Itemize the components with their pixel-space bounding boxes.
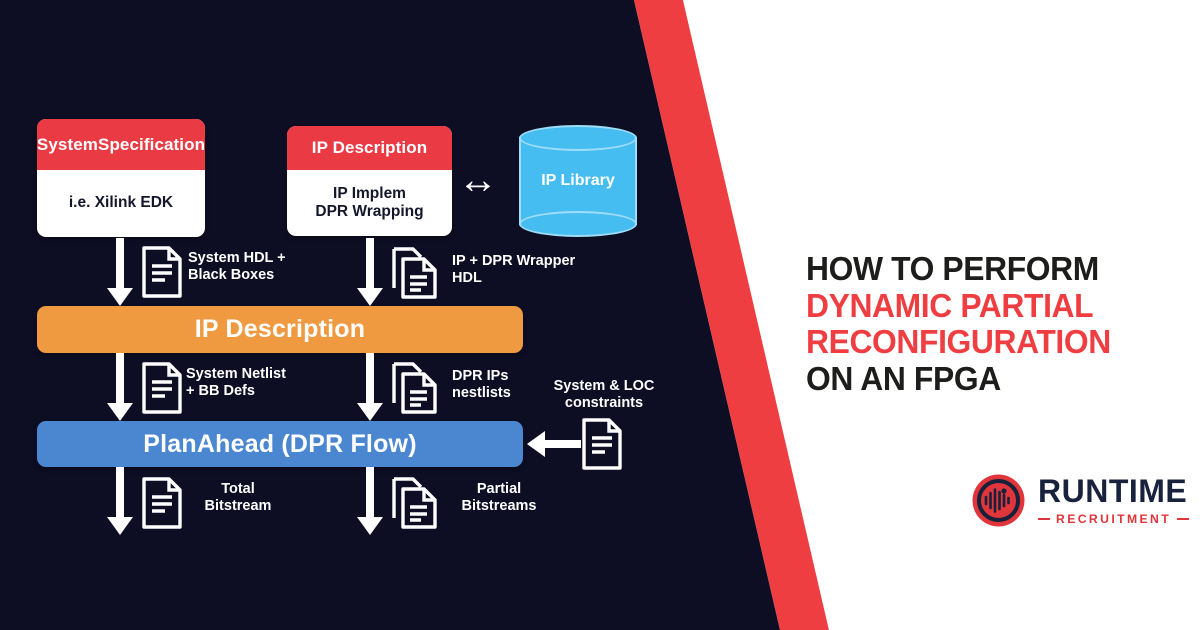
edge-label-line1: Total (221, 481, 255, 497)
card-body-line2: DPR Wrapping (315, 203, 423, 220)
logo-wordmark: RUNTIME RECRUITMENT (1038, 475, 1189, 526)
page-title: HOW TO PERFORM DYNAMIC PARTIAL RECONFIGU… (806, 252, 1167, 398)
card-title-line1: System (37, 135, 98, 154)
document-icon (141, 362, 183, 414)
waveform-circle-icon (972, 474, 1025, 527)
edge-label-line2: nestlists (452, 385, 511, 401)
edge-label-line2: Black Boxes (188, 267, 274, 283)
edge-label-line2: Bitstreams (462, 498, 537, 514)
logo-word: RUNTIME (1038, 475, 1189, 507)
card-ip-description-header: IP Description (287, 126, 452, 170)
edge-label-line1: IP + DPR Wrapper (452, 253, 575, 269)
arrow-left-constraints-to-planahead (527, 430, 581, 458)
edge-label-line1: System Netlist (186, 366, 286, 382)
edge-label-line2: constraints (565, 395, 643, 411)
logo-dash-right-icon (1177, 518, 1189, 521)
card-system-specification-body: i.e. Xilink EDK (37, 170, 205, 237)
edge-label-system-loc-constraints: System & LOC constraints (538, 378, 670, 413)
document-icon (581, 418, 623, 470)
logo-subtitle-row: RECRUITMENT (1038, 512, 1189, 526)
documents-stack-icon (391, 476, 441, 530)
bar-planahead-dpr-flow: PlanAhead (DPR Flow) (37, 421, 523, 467)
logo-subtitle: RECRUITMENT (1056, 512, 1171, 526)
arrow-down-planahead-to-total-bitstream (105, 467, 135, 535)
arrow-down-ipdesc-to-ipdesc (355, 238, 385, 306)
bar-ip-description: IP Description (37, 306, 523, 353)
documents-stack-icon (391, 361, 441, 415)
cylinder-ip-library: IP Library (519, 125, 637, 237)
edge-label-line1: System HDL + (188, 250, 286, 266)
edge-label-line1: System & LOC (554, 378, 655, 394)
edge-label-ip-dpr-wrapper: IP + DPR Wrapper HDL (452, 253, 617, 288)
card-ip-description-body: IP Implem DPR Wrapping (287, 170, 452, 236)
headline-line-2: DYNAMIC PARTIAL (806, 289, 1167, 326)
headline-line-4: ON AN FPGA (806, 362, 1167, 399)
arrow-down-ipdesc-to-planahead-right (355, 353, 385, 421)
card-ip-description: IP Description IP Implem DPR Wrapping (287, 126, 452, 236)
documents-stack-icon (391, 246, 441, 300)
card-system-specification-header: System Specification (37, 119, 205, 170)
bidirectional-arrow-icon: ↔ (458, 160, 498, 200)
edge-label-system-hdl: System HDL + Black Boxes (188, 250, 318, 285)
edge-label-line2: + BB Defs (186, 383, 255, 399)
headline-line-3: RECONFIGURATION (806, 325, 1167, 362)
edge-label-line2: Bitstream (205, 498, 272, 514)
card-body-line1: IP Implem (333, 185, 406, 202)
document-icon (141, 246, 183, 298)
edge-label-line1: Partial (477, 481, 521, 497)
logo-dash-left-icon (1038, 518, 1050, 521)
card-system-specification: System Specification i.e. Xilink EDK (37, 119, 205, 237)
headline-line-1: HOW TO PERFORM (806, 252, 1167, 289)
edge-label-line2: HDL (452, 270, 482, 286)
runtime-recruitment-logo: RUNTIME RECRUITMENT (972, 474, 1189, 527)
poster-canvas: System Specification i.e. Xilink EDK IP … (0, 0, 1200, 630)
edge-label-total-bitstream: Total Bitstream (190, 481, 286, 516)
arrow-down-sysspec-to-ipdesc (105, 238, 135, 306)
arrow-down-planahead-to-partial-bitstreams (355, 467, 385, 535)
cylinder-label: IP Library (519, 125, 637, 237)
arrow-down-ipdesc-to-planahead (105, 353, 135, 421)
dpr-flow-diagram: System Specification i.e. Xilink EDK IP … (0, 0, 700, 630)
document-icon (141, 477, 183, 529)
edge-label-partial-bitstreams: Partial Bitstreams (444, 481, 554, 516)
edge-label-line1: DPR IPs (452, 368, 508, 384)
edge-label-system-netlist: System Netlist + BB Defs (186, 366, 316, 401)
card-title-line2: Specification (98, 135, 205, 154)
